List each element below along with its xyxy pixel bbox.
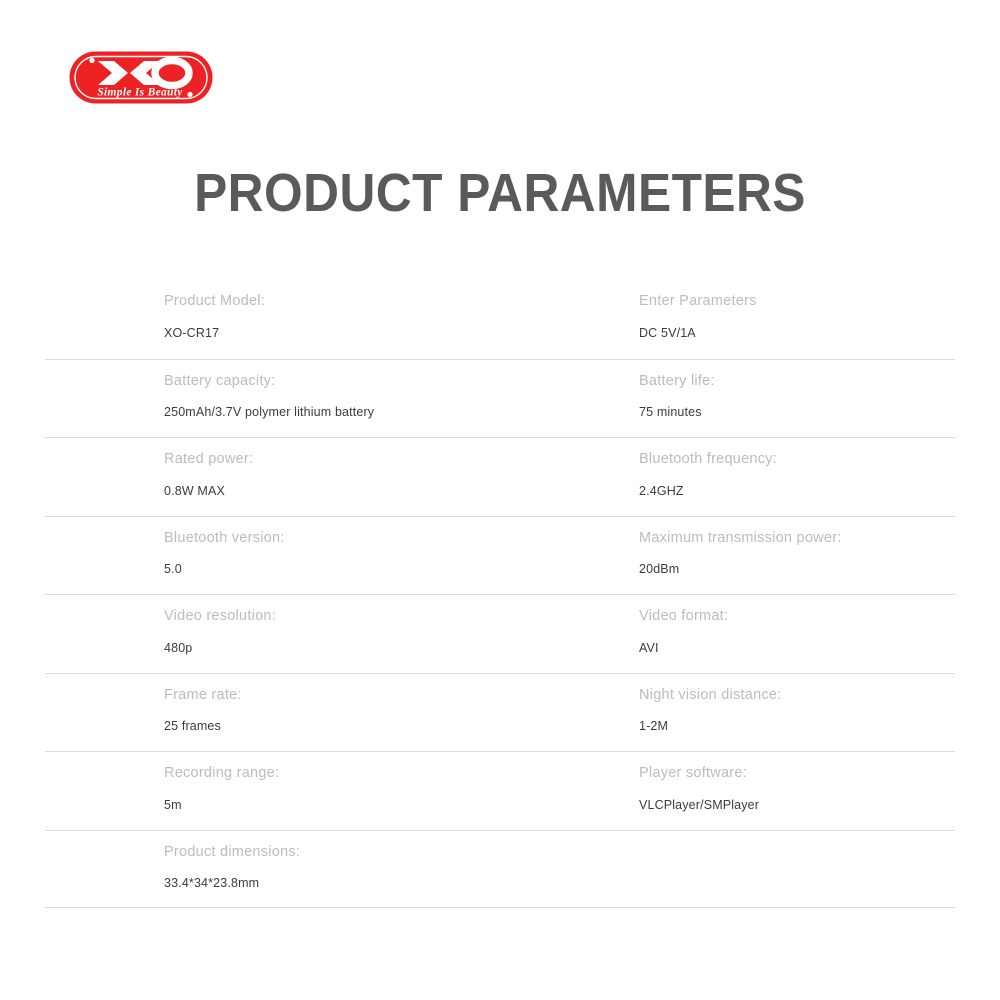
spec-value: 33.4*34*23.8mm [164, 877, 500, 890]
spec-value: AVI [639, 642, 955, 655]
spec-label: Video format: [639, 609, 955, 624]
spec-value: 5m [164, 799, 500, 812]
spec-value: 2.4GHZ [639, 485, 955, 498]
spec-cell-left: Product Model: XO-CR17 [45, 280, 500, 359]
spec-cell-left: Bluetooth version: 5.0 [45, 517, 500, 595]
logo-tagline: Simple Is Beauty [97, 87, 183, 99]
spec-value: VLCPlayer/SMPlayer [639, 799, 955, 812]
spec-label: Bluetooth version: [164, 531, 500, 546]
page-title: PRODUCT PARAMETERS [40, 166, 960, 221]
xo-logo: Simple Is Beauty [68, 50, 214, 105]
table-row: Product dimensions: 33.4*34*23.8mm [45, 830, 955, 909]
spec-value: 480p [164, 642, 500, 655]
spec-cell-left: Recording range: 5m [45, 752, 500, 830]
spec-label: Product Model: [164, 294, 500, 309]
spec-label: Bluetooth frequency: [639, 452, 955, 467]
table-row: Product Model: XO-CR17 Enter Parameters … [45, 280, 955, 359]
spec-value: DC 5V/1A [639, 327, 955, 340]
spec-label: Maximum transmission power: [639, 531, 955, 546]
spec-value: 0.8W MAX [164, 485, 500, 498]
table-row: Bluetooth version: 5.0 Maximum transmiss… [45, 516, 955, 595]
spec-cell-left: Frame rate: 25 frames [45, 674, 500, 752]
spec-label: Night vision distance: [639, 688, 955, 703]
spec-value: 5.0 [164, 563, 500, 576]
table-row: Recording range: 5m Player software: VLC… [45, 751, 955, 830]
spec-label: Recording range: [164, 766, 500, 781]
table-row: Frame rate: 25 frames Night vision dista… [45, 673, 955, 752]
spec-label: Enter Parameters [639, 294, 955, 309]
spec-value: XO-CR17 [164, 327, 500, 340]
spec-value: 250mAh/3.7V polymer lithium battery [164, 406, 500, 419]
spec-label: Video resolution: [164, 609, 500, 624]
spec-label: Product dimensions: [164, 845, 500, 860]
spec-cell-left: Video resolution: 480p [45, 595, 500, 673]
spec-label: Frame rate: [164, 688, 500, 703]
product-parameters-table: Product Model: XO-CR17 Enter Parameters … [45, 280, 955, 908]
spec-value: 20dBm [639, 563, 955, 576]
spec-value: 75 minutes [639, 406, 955, 419]
spec-label: Player software: [639, 766, 955, 781]
table-row: Rated power: 0.8W MAX Bluetooth frequenc… [45, 437, 955, 516]
table-row: Battery capacity: 250mAh/3.7V polymer li… [45, 359, 955, 438]
spec-label: Battery capacity: [164, 374, 500, 389]
spec-label: Rated power: [164, 452, 500, 467]
table-row: Video resolution: 480p Video format: AVI [45, 594, 955, 673]
xo-logo-graphic: Simple Is Beauty [68, 50, 214, 105]
spec-cell-left: Product dimensions: 33.4*34*23.8mm [45, 831, 500, 908]
spec-cell-left: Battery capacity: 250mAh/3.7V polymer li… [45, 360, 500, 438]
spec-value: 25 frames [164, 720, 500, 733]
spec-cell-left: Rated power: 0.8W MAX [45, 438, 500, 516]
spec-label: Battery life: [639, 374, 955, 389]
spec-value: 1-2M [639, 720, 955, 733]
